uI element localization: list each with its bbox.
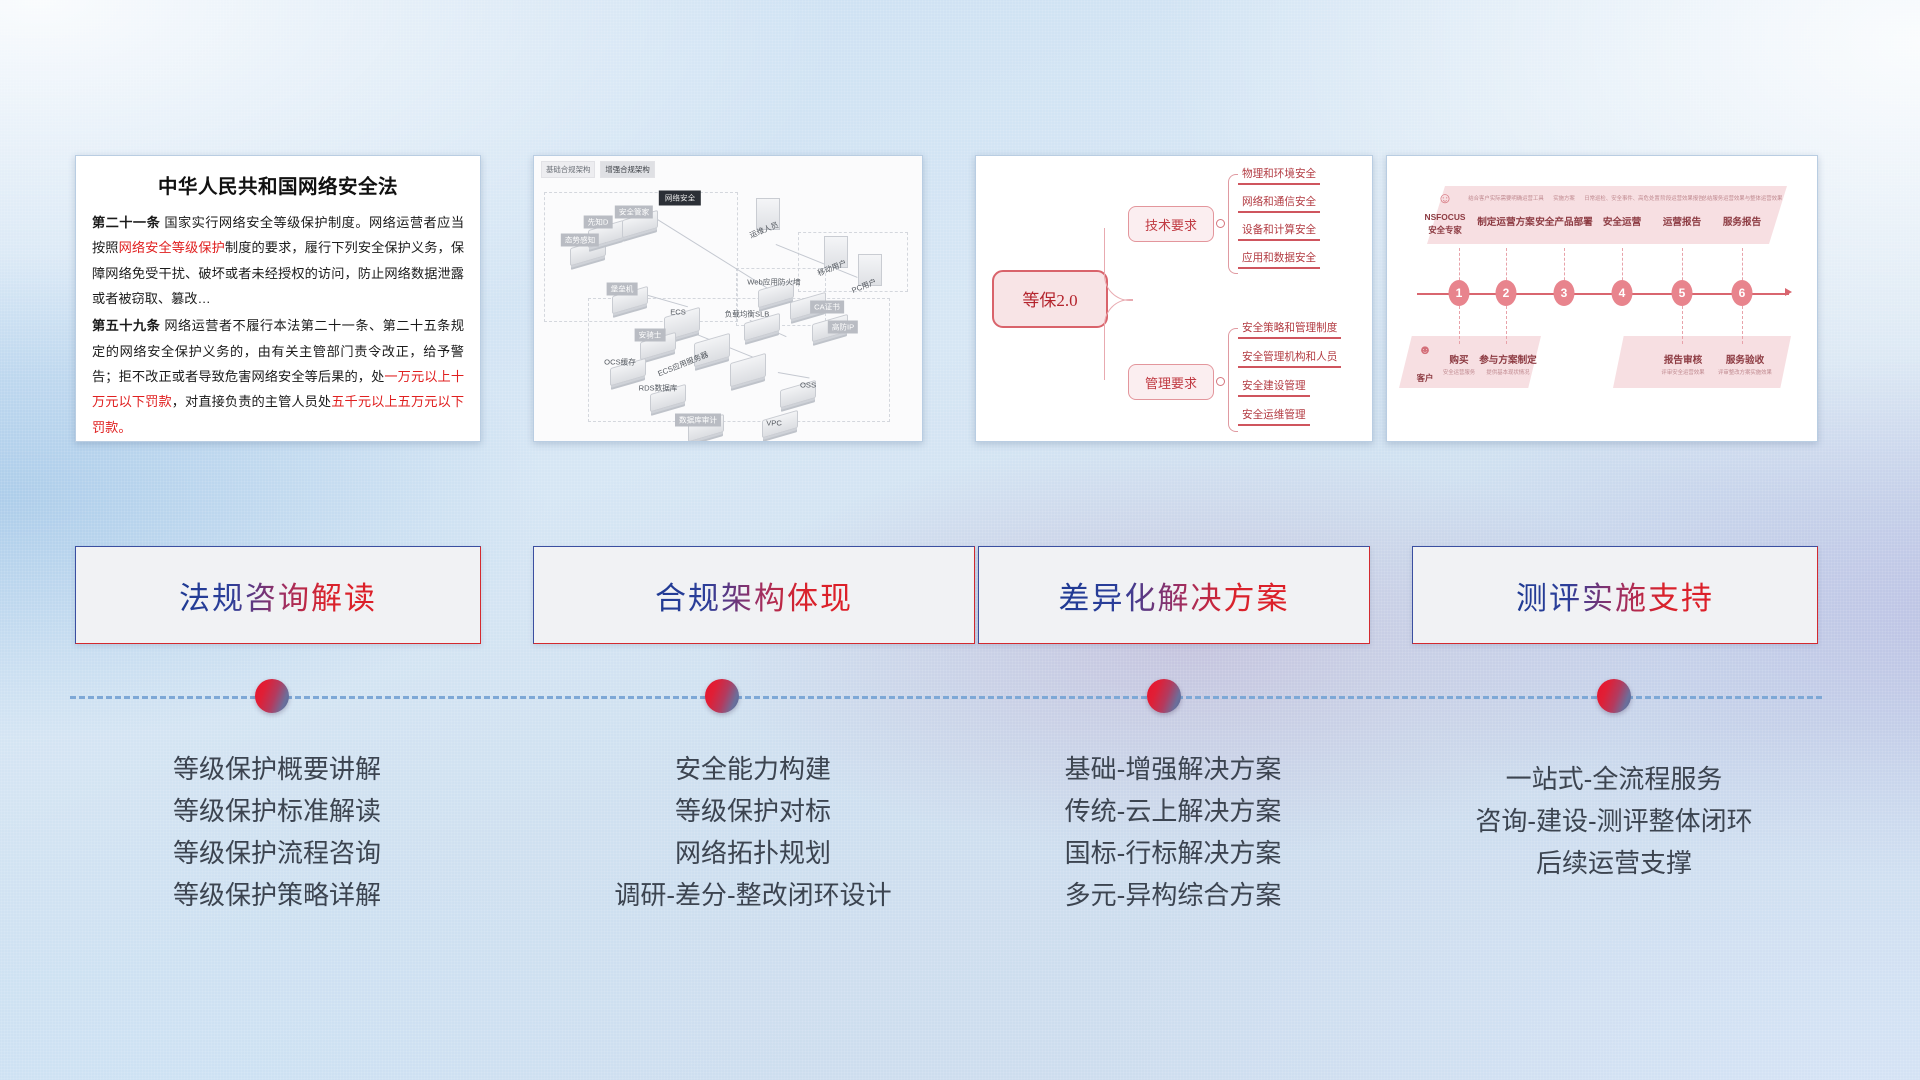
list-item: 等级保护流程咨询 (75, 832, 479, 874)
list-item: 等级保护策略详解 (75, 874, 479, 916)
list-item: 传统-云上解决方案 (978, 790, 1368, 832)
list-item: 调研-差分-整改闭环设计 (533, 874, 973, 916)
timeline-dot-3[interactable] (1147, 679, 1181, 713)
list-item: 多元-异构综合方案 (978, 874, 1368, 916)
section-title-box-2[interactable]: 合规架构体现 (533, 546, 975, 644)
section-list-3: 基础-增强解决方案 传统-云上解决方案 国标-行标解决方案 多元-异构综合方案 (978, 748, 1368, 916)
section-title-row: 法规咨询解读 合规架构体现 差异化解决方案 测评实施支持 等级保护概要讲解 等级… (0, 0, 1920, 1080)
section-title-label-1: 法规咨询解读 (179, 573, 377, 618)
list-item: 咨询-建设-测评整体闭环 (1412, 800, 1816, 842)
list-item: 等级保护标准解读 (75, 790, 479, 832)
section-title-box-3[interactable]: 差异化解决方案 (978, 546, 1370, 644)
section-list-4: 一站式-全流程服务 咨询-建设-测评整体闭环 后续运营支撑 (1412, 758, 1816, 884)
list-item: 网络拓扑规划 (533, 832, 973, 874)
list-item: 国标-行标解决方案 (978, 832, 1368, 874)
section-title-label-4: 测评实施支持 (1516, 573, 1714, 618)
section-title-box-4[interactable]: 测评实施支持 (1412, 546, 1818, 644)
list-item: 一站式-全流程服务 (1412, 758, 1816, 800)
list-item: 基础-增强解决方案 (978, 748, 1368, 790)
timeline-dot-4[interactable] (1597, 679, 1631, 713)
timeline-rail (70, 696, 1822, 699)
timeline-dot-1[interactable] (255, 679, 289, 713)
list-item: 安全能力构建 (533, 748, 973, 790)
section-title-label-2: 合规架构体现 (655, 573, 853, 618)
timeline-dot-2[interactable] (705, 679, 739, 713)
section-title-box-1[interactable]: 法规咨询解读 (75, 546, 481, 644)
section-list-1: 等级保护概要讲解 等级保护标准解读 等级保护流程咨询 等级保护策略详解 (75, 748, 479, 916)
section-title-label-3: 差异化解决方案 (1059, 573, 1290, 618)
list-item: 等级保护概要讲解 (75, 748, 479, 790)
section-list-2: 安全能力构建 等级保护对标 网络拓扑规划 调研-差分-整改闭环设计 (533, 748, 973, 916)
list-item: 后续运营支撑 (1412, 842, 1816, 884)
list-item: 等级保护对标 (533, 790, 973, 832)
